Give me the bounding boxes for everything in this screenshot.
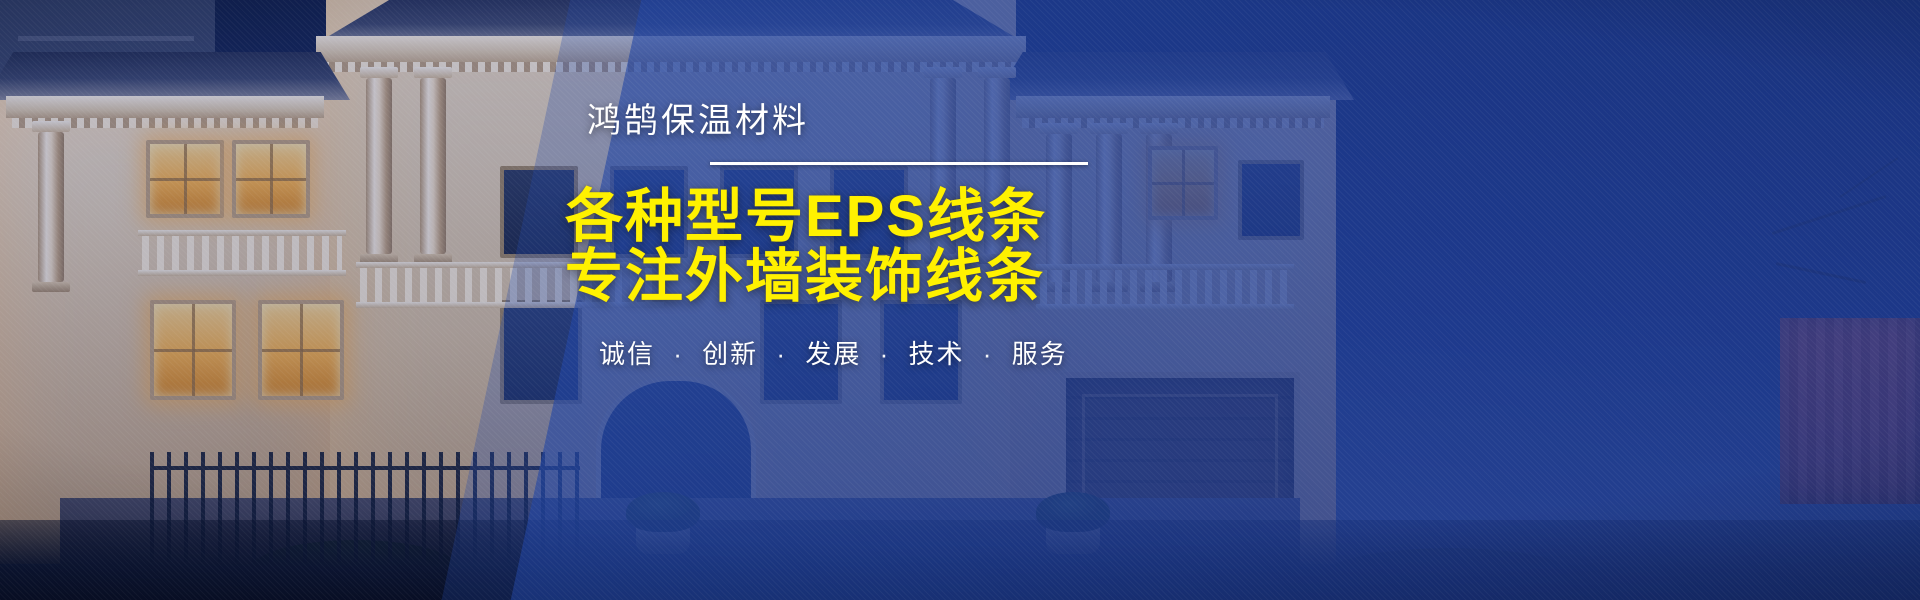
tagline-separator-4: · [983, 339, 994, 369]
tagline-item-1: 诚信 [599, 339, 655, 369]
tagline-separator-2: · [776, 339, 787, 369]
headline-line-1: 各种型号EPS线条 [565, 184, 1047, 249]
hero-banner: 鸿鹄保温材料 各种型号EPS线条 专注外墙装饰线条 诚信 · 创新 · 发展 ·… [0, 0, 1920, 600]
tagline: 诚信 · 创新 · 发展 · 技术 · 服务 [599, 334, 1325, 371]
brand-name: 鸿鹄保温材料 [587, 104, 1325, 138]
tagline-item-2: 创新 [702, 339, 758, 369]
tagline-separator-3: · [880, 339, 891, 369]
divider-rule [710, 162, 1088, 165]
tagline-separator-1: · [673, 339, 684, 369]
headline-block: 各种型号EPS线条 专注外墙装饰线条 [565, 187, 1325, 308]
tagline-item-3: 发展 [805, 339, 861, 369]
tagline-item-4: 技术 [908, 339, 964, 369]
banner-copy-block: 鸿鹄保温材料 各种型号EPS线条 专注外墙装饰线条 诚信 · 创新 · 发展 ·… [565, 104, 1325, 371]
tagline-item-5: 服务 [1012, 339, 1068, 369]
headline-line-2: 专注外墙装饰线条 [565, 247, 1325, 307]
